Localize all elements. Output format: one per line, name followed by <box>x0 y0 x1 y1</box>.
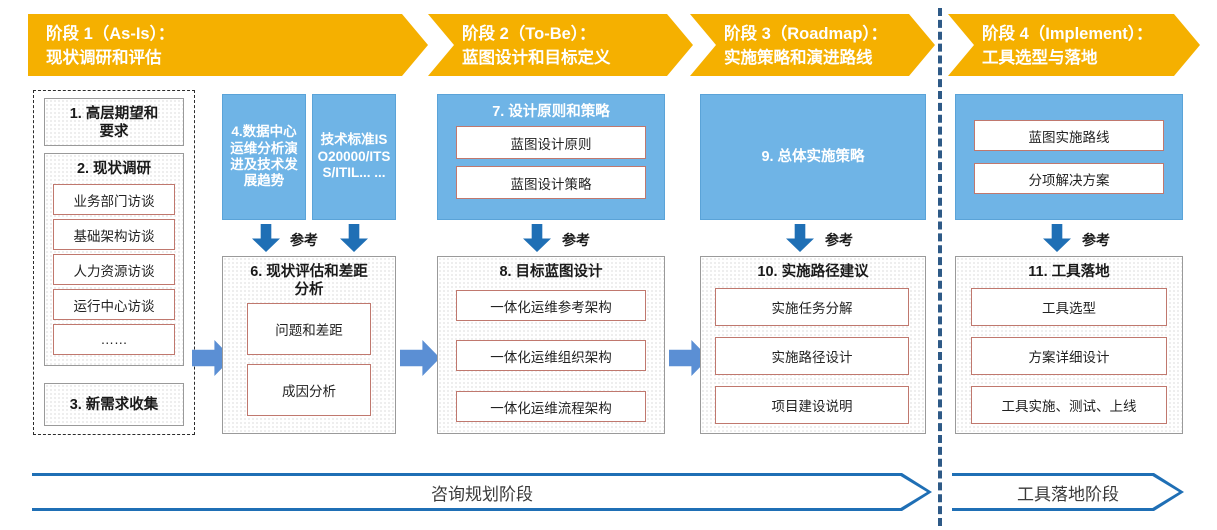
list-item[interactable]: 运行中心访谈 <box>53 289 175 320</box>
box-1-title: 1. 高层期望和 要求 <box>45 105 183 141</box>
phase-1-line2: 现状调研和评估 <box>46 47 398 71</box>
knowledge-box-standards[interactable]: 技术标准ISO20000/ITSS/ITIL... ... <box>312 94 396 220</box>
reference-arrow-down <box>340 224 368 252</box>
stage-label-toolimpl: 工具落地阶段 <box>952 473 1184 511</box>
box-3-panel[interactable]: 3. 新需求收集 <box>44 383 184 426</box>
phase-banner-3[interactable]: 阶段 3（Roadmap）： 实施策略和演进路线 <box>690 14 935 76</box>
list-item[interactable]: 基础架构访谈 <box>53 219 175 250</box>
reference-label: 参考 <box>1082 230 1110 250</box>
list-item[interactable]: 一体化运维参考架构 <box>456 290 646 321</box>
phase-banner-4[interactable]: 阶段 4（Implement）： 工具选型与落地 <box>948 14 1200 76</box>
box-8-title: 8. 目标蓝图设计 <box>438 263 664 281</box>
reference-arrow-down <box>786 224 814 252</box>
phase-banner-2[interactable]: 阶段 2（To-Be）： 蓝图设计和目标定义 <box>428 14 693 76</box>
phase-banner-1[interactable]: 阶段 1（As-Is）： 现状调研和评估 <box>28 14 428 76</box>
list-item[interactable]: 问题和差距 <box>247 303 371 355</box>
box-10-title: 10. 实施路径建议 <box>701 263 925 281</box>
knowledge-box-data-center[interactable]: 4.数据中心运维分析演进及技术发展趋势 <box>222 94 306 220</box>
list-item[interactable]: …… <box>53 324 175 355</box>
phase-4-line2: 工具选型与落地 <box>982 47 1170 71</box>
list-item[interactable]: 工具实施、测试、上线 <box>971 386 1167 424</box>
box-7-title: 7. 设计原则和策略 <box>438 103 664 121</box>
column-5-top-panel[interactable] <box>955 94 1183 220</box>
process-diagram: 阶段 1（As-Is）： 现状调研和评估 阶段 2（To-Be）： 蓝图设计和目… <box>0 0 1217 530</box>
stage-banner-toolimpl[interactable]: 工具落地阶段 <box>952 473 1184 511</box>
flow-arrow-2 <box>400 340 440 376</box>
reference-arrow-down <box>252 224 280 252</box>
list-item[interactable]: 分项解决方案 <box>974 163 1164 194</box>
reference-arrow-down <box>1043 224 1071 252</box>
list-item[interactable]: 蓝图实施路线 <box>974 120 1164 151</box>
phase-4-line1: 阶段 4（Implement）： <box>982 23 1170 47</box>
reference-label: 参考 <box>562 230 590 250</box>
list-item[interactable]: 工具选型 <box>971 288 1167 326</box>
stage-banner-consulting[interactable]: 咨询规划阶段 <box>32 473 932 511</box>
box-2-title: 2. 现状调研 <box>45 160 183 178</box>
phase-1-line1: 阶段 1（As-Is）： <box>46 23 398 47</box>
phase-3-line2: 实施策略和演进路线 <box>724 47 905 71</box>
list-item[interactable]: 方案详细设计 <box>971 337 1167 375</box>
list-item[interactable]: 蓝图设计原则 <box>456 126 646 159</box>
box-1-panel[interactable]: 1. 高层期望和 要求 <box>44 98 184 146</box>
list-item[interactable]: 人力资源访谈 <box>53 254 175 285</box>
box-9-panel[interactable]: 9. 总体实施策略 <box>700 94 926 220</box>
list-item[interactable]: 蓝图设计策略 <box>456 166 646 199</box>
list-item[interactable]: 实施路径设计 <box>715 337 909 375</box>
box-3-title: 3. 新需求收集 <box>45 396 183 414</box>
phase-2-line2: 蓝图设计和目标定义 <box>462 47 663 71</box>
reference-label: 参考 <box>825 230 853 250</box>
stage-label-consulting: 咨询规划阶段 <box>32 473 932 511</box>
box-11-title: 11. 工具落地 <box>956 263 1182 281</box>
list-item[interactable]: 业务部门访谈 <box>53 184 175 215</box>
list-item[interactable]: 实施任务分解 <box>715 288 909 326</box>
box-6-title: 6. 现状评估和差距 分析 <box>223 263 395 299</box>
list-item[interactable]: 一体化运维组织架构 <box>456 340 646 371</box>
reference-label: 参考 <box>290 230 318 250</box>
reference-arrow-down <box>523 224 551 252</box>
list-item[interactable]: 一体化运维流程架构 <box>456 391 646 422</box>
phase-2-line1: 阶段 2（To-Be）： <box>462 23 663 47</box>
phase-divider <box>938 8 942 526</box>
phase-3-line1: 阶段 3（Roadmap）： <box>724 23 905 47</box>
list-item[interactable]: 项目建设说明 <box>715 386 909 424</box>
list-item[interactable]: 成因分析 <box>247 364 371 416</box>
box-9-title: 9. 总体实施策略 <box>701 148 925 166</box>
